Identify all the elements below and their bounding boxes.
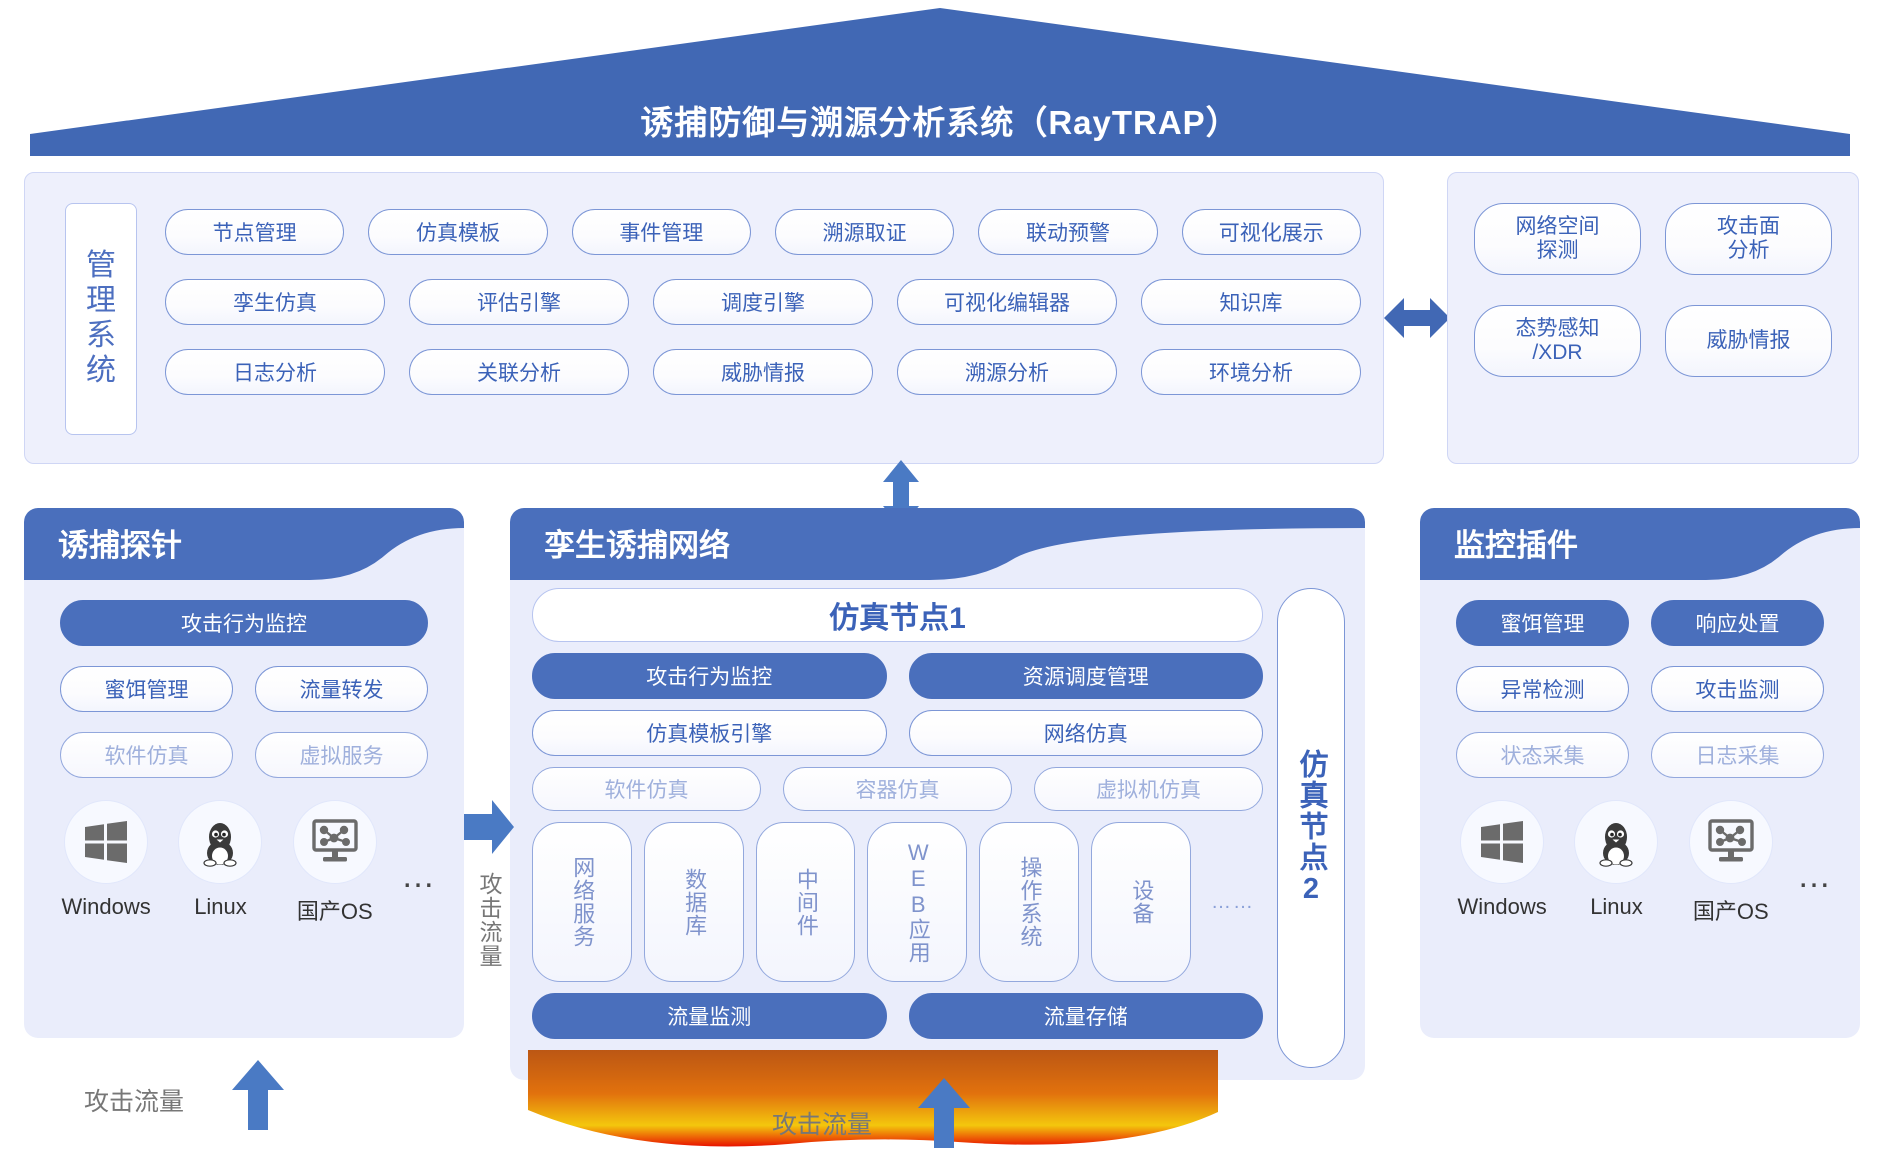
plugin-os-windows-label: Windows — [1458, 894, 1547, 920]
service-more-ellipsis: …… — [1203, 822, 1263, 982]
external-row-1: 网络空间 探测 攻击面 分析 — [1474, 203, 1832, 275]
decoy-probe-content: 攻击行为监控 蜜饵管理 流量转发 软件仿真 虚拟服务 — [24, 576, 464, 1038]
ext-pill-threat-intelligence[interactable]: 威胁情报 — [1665, 305, 1832, 377]
probe-bottom-arrow — [232, 1060, 284, 1135]
plugin-os-windows: Windows — [1454, 800, 1550, 920]
service-operating-system[interactable]: 操作系统 — [979, 822, 1079, 982]
management-system-label: 管 理 系 统 — [65, 203, 137, 435]
linux-penguin-icon — [1574, 800, 1658, 884]
plugin-row-3: 状态采集 日志采集 — [1456, 732, 1824, 778]
management-row-1: 节点管理 仿真模板 事件管理 溯源取证 联动预警 可视化展示 — [165, 209, 1361, 255]
probe-os-row: Windows — [24, 778, 464, 926]
ext-pill-line1: 攻击面 — [1717, 215, 1780, 239]
mgmt-pill-correlation[interactable]: 关联分析 — [409, 349, 629, 395]
mgmt-pill-log-analysis[interactable]: 日志分析 — [165, 349, 385, 395]
plugin-os-row: Windows — [1420, 778, 1860, 926]
decoy-probe-title: 诱捕探针 — [24, 508, 182, 576]
plugin-os-more-ellipsis: … — [1797, 857, 1834, 896]
node1-pill-traffic-monitoring[interactable]: 流量监测 — [532, 993, 887, 1039]
mgmt-label-char-1: 管 — [86, 249, 116, 284]
probe-os-windows: Windows — [58, 800, 154, 920]
mgmt-label-char-2: 理 — [86, 284, 116, 319]
plugin-pill-response-handling[interactable]: 响应处置 — [1651, 600, 1824, 646]
bidirectional-link-arrow — [1384, 288, 1450, 348]
monitoring-plugin-content: 蜜饵管理 响应处置 异常检测 攻击监测 状态采集 日志采集 — [1420, 576, 1860, 1038]
simulation-node-2: 仿真节点2 …… — [1277, 588, 1345, 1068]
mgmt-pill-env-analysis[interactable]: 环境分析 — [1141, 349, 1361, 395]
service-network-service[interactable]: 网络服务 — [532, 822, 632, 982]
monitoring-plugin-feature-stack: 蜜饵管理 响应处置 异常检测 攻击监测 状态采集 日志采集 — [1420, 576, 1860, 778]
plugin-pill-anomaly-detection[interactable]: 异常检测 — [1456, 666, 1629, 712]
plugin-pill-log-collection[interactable]: 日志采集 — [1651, 732, 1824, 778]
ext-pill-line2: 探测 — [1537, 239, 1579, 263]
mgmt-label-char-4: 统 — [86, 354, 116, 389]
ext-pill-line1: 威胁情报 — [1707, 329, 1791, 353]
service-web-application[interactable]: WEB应用 — [867, 822, 967, 982]
twin-bottom-traffic-label: 攻击流量 — [772, 1105, 872, 1141]
twin-decoy-network-body: 孪生诱捕网络 仿真节点1 攻击行为监控 资源调度管理 仿真模板引擎 网络仿真 — [510, 508, 1365, 1080]
probe-pill-software-simulation[interactable]: 软件仿真 — [60, 732, 233, 778]
domestic-os-monitor-icon — [1689, 800, 1773, 884]
external-feature-grid: 网络空间 探测 攻击面 分析 态势感知 /XDR 威胁情报 — [1474, 203, 1832, 377]
probe-os-domestic-label: 国产OS — [297, 894, 373, 926]
mgmt-pill-linked-alert[interactable]: 联动预警 — [978, 209, 1157, 255]
mgmt-pill-scheduling-engine[interactable]: 调度引擎 — [653, 279, 873, 325]
twin-network-inner: 仿真节点1 攻击行为监控 资源调度管理 仿真模板引擎 网络仿真 软件仿真 容器仿… — [532, 588, 1345, 1068]
decoy-probe-card: 诱捕探针 攻击行为监控 蜜饵管理 流量转发 软件仿真 虚拟服务 — [24, 508, 464, 1038]
probe-row-2: 蜜饵管理 流量转发 — [60, 666, 428, 712]
node1-pill-sim-template-engine[interactable]: 仿真模板引擎 — [532, 710, 887, 756]
external-systems-panel: 网络空间 探测 攻击面 分析 态势感知 /XDR 威胁情报 — [1447, 172, 1859, 464]
twin-decoy-network-title: 孪生诱捕网络 — [510, 508, 730, 576]
mgmt-pill-event-management[interactable]: 事件管理 — [572, 209, 751, 255]
mgmt-pill-twin-simulation[interactable]: 孪生仿真 — [165, 279, 385, 325]
probe-os-domestic: 国产OS — [287, 800, 383, 926]
service-middleware[interactable]: 中间件 — [756, 822, 856, 982]
windows-icon — [64, 800, 148, 884]
plugin-os-domestic: 国产OS — [1683, 800, 1779, 926]
monitoring-plugin-card: 监控插件 蜜饵管理 响应处置 异常检测 攻击监测 状态采集 日志采集 — [1420, 508, 1860, 1038]
mgmt-pill-visual-editor[interactable]: 可视化编辑器 — [897, 279, 1117, 325]
node1-pill-container-simulation[interactable]: 容器仿真 — [783, 767, 1012, 811]
node1-row-3: 软件仿真 容器仿真 虚拟机仿真 — [532, 767, 1263, 811]
ext-pill-line2: /XDR — [1532, 341, 1582, 365]
monitoring-plugin-body: 监控插件 蜜饵管理 响应处置 异常检测 攻击监测 状态采集 日志采集 — [1420, 508, 1860, 1038]
ext-pill-cyberspace-detection[interactable]: 网络空间 探测 — [1474, 203, 1641, 275]
probe-pill-attack-behavior-monitor[interactable]: 攻击行为监控 — [60, 600, 428, 646]
domestic-os-monitor-icon — [293, 800, 377, 884]
linux-penguin-icon — [178, 800, 262, 884]
mgmt-pill-node-management[interactable]: 节点管理 — [165, 209, 344, 255]
plugin-row-2: 异常检测 攻击监测 — [1456, 666, 1824, 712]
windows-icon — [1460, 800, 1544, 884]
node1-pill-software-simulation[interactable]: 软件仿真 — [532, 767, 761, 811]
node1-pill-traffic-storage[interactable]: 流量存储 — [909, 993, 1264, 1039]
probe-to-twin-arrow — [464, 800, 514, 859]
mgmt-pill-knowledge-base[interactable]: 知识库 — [1141, 279, 1361, 325]
probe-pill-virtual-service[interactable]: 虚拟服务 — [255, 732, 428, 778]
mgmt-pill-eval-engine[interactable]: 评估引擎 — [409, 279, 629, 325]
external-row-2: 态势感知 /XDR 威胁情报 — [1474, 305, 1832, 377]
probe-pill-traffic-forwarding[interactable]: 流量转发 — [255, 666, 428, 712]
plugin-row-1: 蜜饵管理 响应处置 — [1456, 600, 1824, 646]
probe-os-linux-label: Linux — [194, 894, 247, 920]
mgmt-pill-sim-template[interactable]: 仿真模板 — [368, 209, 547, 255]
node1-bottom-row: 流量监测 流量存储 — [532, 993, 1263, 1039]
plugin-pill-attack-detection[interactable]: 攻击监测 — [1651, 666, 1824, 712]
mgmt-pill-threat-intel[interactable]: 威胁情报 — [653, 349, 873, 395]
monitoring-plugin-title: 监控插件 — [1420, 508, 1578, 576]
node1-service-row: 网络服务 数据库 中间件 WEB应用 操作系统 设备 …… — [532, 822, 1263, 982]
probe-pill-honey-bait-management[interactable]: 蜜饵管理 — [60, 666, 233, 712]
node1-pill-vm-simulation[interactable]: 虚拟机仿真 — [1034, 767, 1263, 811]
mgmt-pill-forensics[interactable]: 溯源取证 — [775, 209, 954, 255]
page-title: 诱捕防御与溯源分析系统（RayTRAP） — [30, 96, 1850, 144]
probe-row-3: 软件仿真 虚拟服务 — [60, 732, 428, 778]
twin-decoy-network-card: 孪生诱捕网络 仿真节点1 攻击行为监控 资源调度管理 仿真模板引擎 网络仿真 — [510, 508, 1365, 1080]
node1-pill-attack-behavior-monitor[interactable]: 攻击行为监控 — [532, 653, 887, 699]
simulation-node-1-title: 仿真节点1 — [532, 588, 1263, 642]
management-row-3: 日志分析 关联分析 威胁情报 溯源分析 环境分析 — [165, 349, 1361, 395]
node1-row-1: 攻击行为监控 资源调度管理 — [532, 653, 1263, 699]
management-row-2: 孪生仿真 评估引擎 调度引擎 可视化编辑器 知识库 — [165, 279, 1361, 325]
probe-bottom-traffic-label: 攻击流量 — [84, 1082, 184, 1118]
probe-os-more-ellipsis: … — [401, 857, 438, 896]
node1-pill-network-simulation[interactable]: 网络仿真 — [909, 710, 1264, 756]
simulation-node-2-title[interactable]: 仿真节点2 — [1277, 588, 1345, 1068]
ext-pill-situational-awareness-xdr[interactable]: 态势感知 /XDR — [1474, 305, 1641, 377]
decoy-probe-body: 诱捕探针 攻击行为监控 蜜饵管理 流量转发 软件仿真 虚拟服务 — [24, 508, 464, 1038]
ext-pill-line1: 网络空间 — [1516, 215, 1600, 239]
probe-to-twin-traffic-label: 攻击流量 — [472, 872, 506, 1012]
mgmt-label-char-3: 系 — [86, 319, 116, 354]
decoy-probe-feature-stack: 攻击行为监控 蜜饵管理 流量转发 软件仿真 虚拟服务 — [24, 576, 464, 778]
ext-pill-attack-surface-analysis[interactable]: 攻击面 分析 — [1665, 203, 1832, 275]
service-database[interactable]: 数据库 — [644, 822, 744, 982]
plugin-os-linux-label: Linux — [1590, 894, 1643, 920]
service-device[interactable]: 设备 — [1091, 822, 1191, 982]
mgmt-pill-traceback[interactable]: 溯源分析 — [897, 349, 1117, 395]
twin-decoy-network-content: 仿真节点1 攻击行为监控 资源调度管理 仿真模板引擎 网络仿真 软件仿真 容器仿… — [510, 576, 1365, 1080]
plugin-os-domestic-label: 国产OS — [1693, 894, 1769, 926]
plugin-os-linux: Linux — [1568, 800, 1664, 920]
plugin-pill-honey-bait-management[interactable]: 蜜饵管理 — [1456, 600, 1629, 646]
mgmt-pill-visualization[interactable]: 可视化展示 — [1182, 209, 1361, 255]
plugin-pill-status-collection[interactable]: 状态采集 — [1456, 732, 1629, 778]
diagram-canvas: 诱捕防御与溯源分析系统（RayTRAP） 管 理 系 统 节点管理 仿真模板 事… — [0, 0, 1885, 1175]
node1-pill-resource-scheduling[interactable]: 资源调度管理 — [909, 653, 1264, 699]
management-system-panel: 管 理 系 统 节点管理 仿真模板 事件管理 溯源取证 联动预警 可视化展示 孪… — [24, 172, 1384, 464]
probe-os-windows-label: Windows — [62, 894, 151, 920]
twin-bottom-arrow — [918, 1078, 970, 1153]
simulation-node-1: 仿真节点1 攻击行为监控 资源调度管理 仿真模板引擎 网络仿真 软件仿真 容器仿… — [532, 588, 1263, 1068]
ext-pill-line1: 态势感知 — [1516, 317, 1600, 341]
ext-pill-line2: 分析 — [1728, 239, 1770, 263]
system-title-banner: 诱捕防御与溯源分析系统（RayTRAP） — [30, 8, 1850, 156]
management-feature-grid: 节点管理 仿真模板 事件管理 溯源取证 联动预警 可视化展示 孪生仿真 评估引擎… — [165, 209, 1361, 395]
probe-os-linux: Linux — [172, 800, 268, 920]
node1-row-2: 仿真模板引擎 网络仿真 — [532, 710, 1263, 756]
